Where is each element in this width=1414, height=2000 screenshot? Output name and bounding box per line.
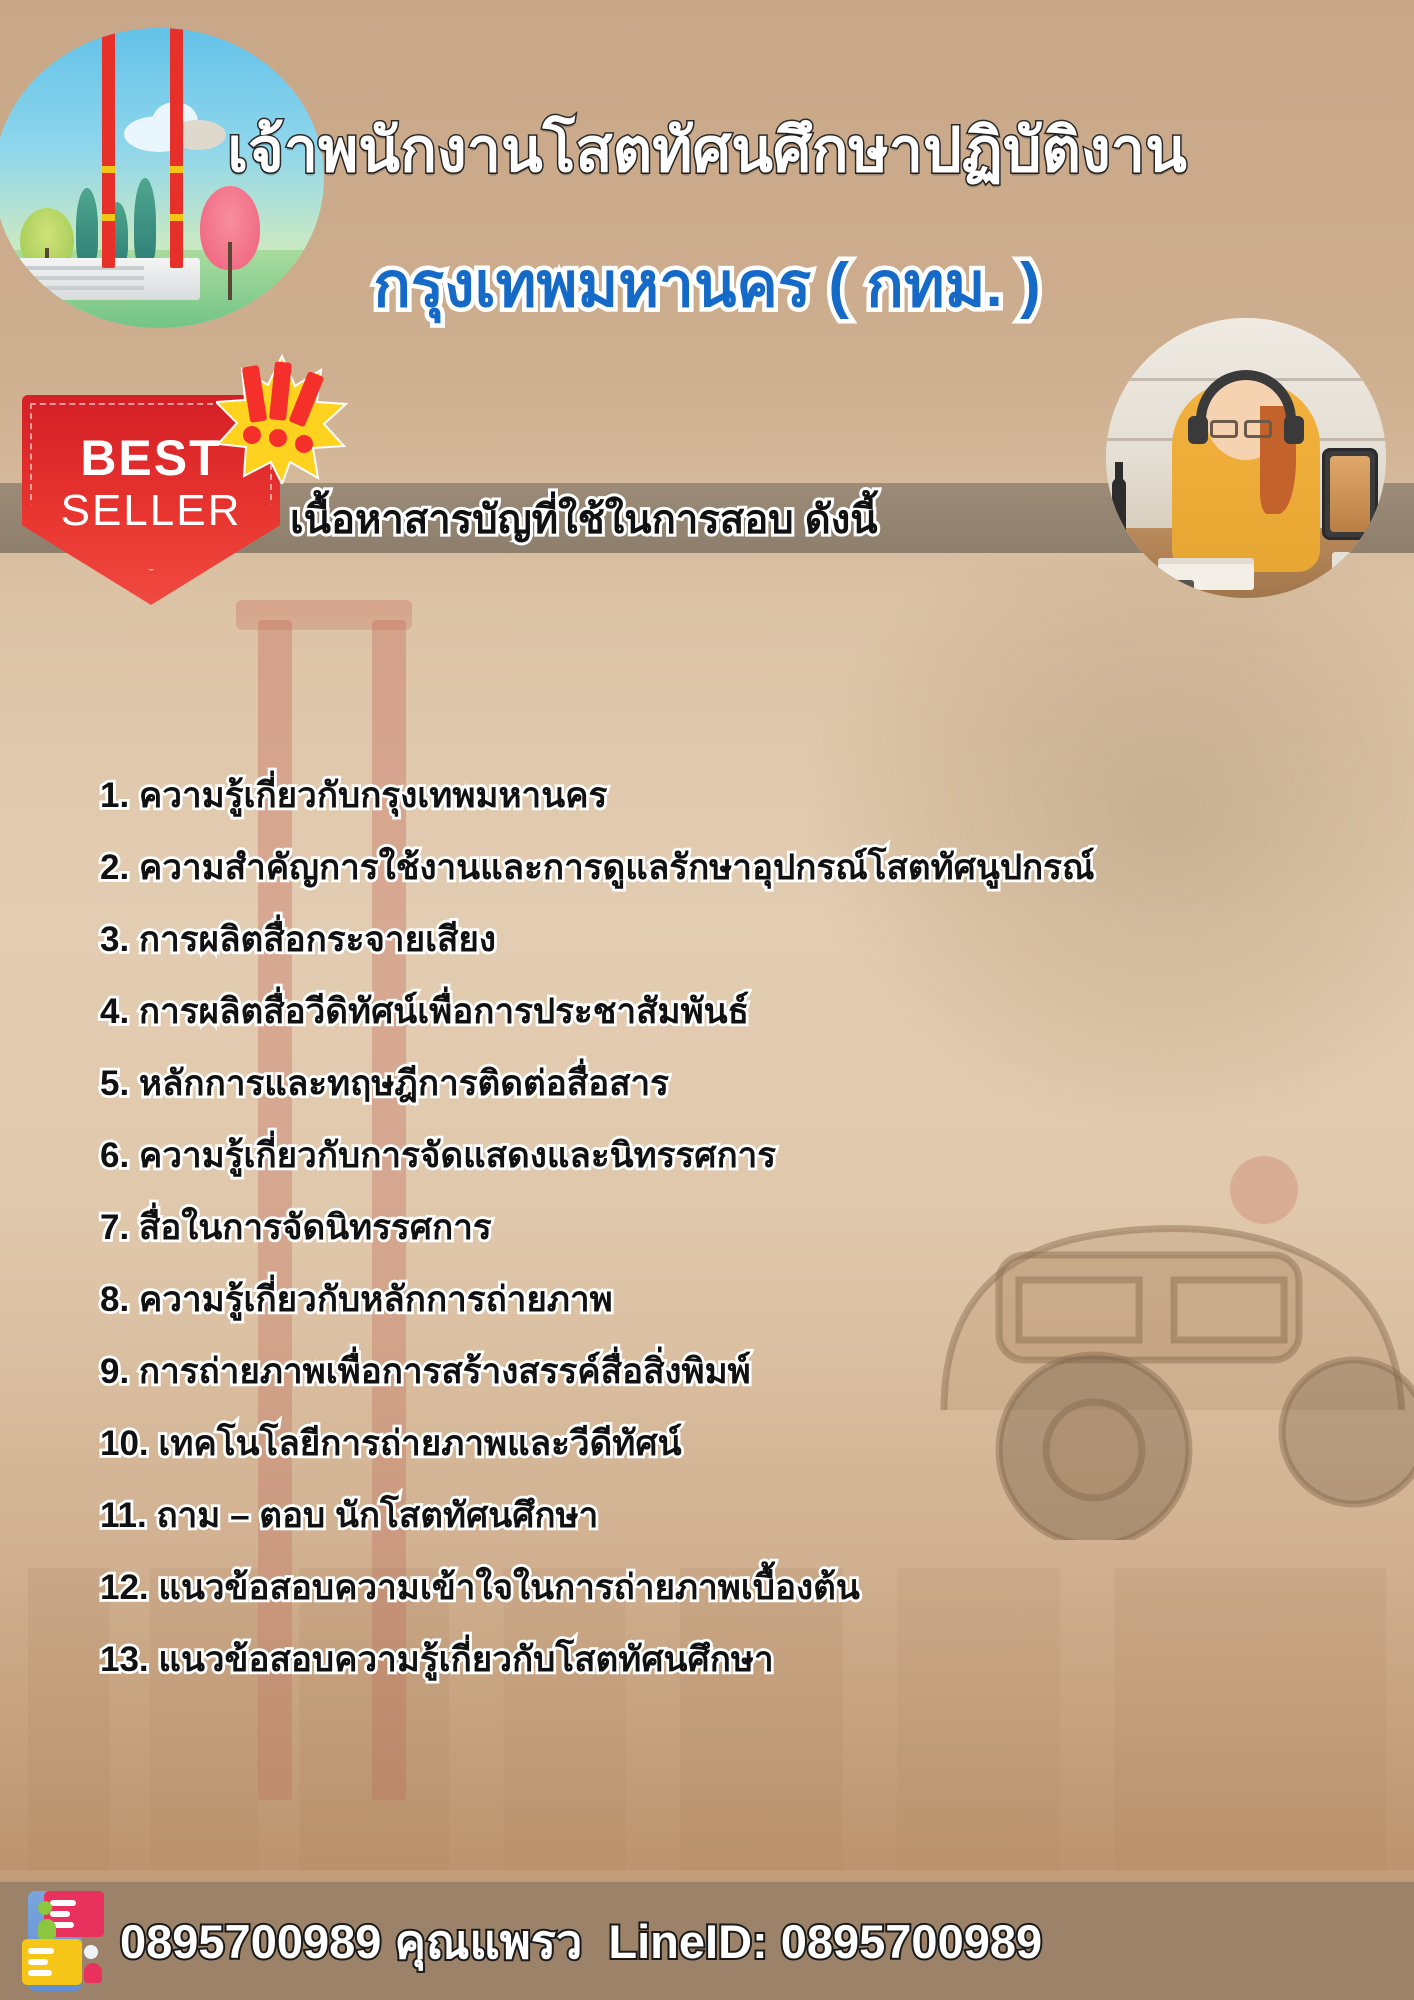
footer-phone: 0895700989 คุณแพรว [120, 1915, 582, 1968]
banner-text-container: เนื้อหาสารบัญที่ใช้ในการสอบ ดังนี้ [290, 487, 1050, 551]
list-item: 2. ความสำคัญการใช้งานและการดูแลรักษาอุปก… [100, 850, 1414, 885]
list-item: 3. การผลิตสื่อกระจายเสียง [100, 922, 1414, 957]
list-item: 4. การผลิตสื่อวีดิทัศน์เพื่อการประชาสัมพ… [100, 994, 1414, 1029]
list-item: 8. ความรู้เกี่ยวกับหลักการถ่ายภาพ [100, 1282, 1414, 1317]
exclamation-burst-icon [216, 352, 348, 484]
list-item: 5. หลักการและทฤษฎีการติดต่อสื่อสาร [100, 1066, 1414, 1101]
banner-text: เนื้อหาสารบัญที่ใช้ในการสอบ ดังนี้ [290, 487, 1050, 551]
list-item: 13. แนวข้อสอบความรู้เกี่ยวกับโสตทัศนศึกษ… [100, 1642, 1414, 1677]
page-title: เจ้าพนักงานโสตทัศนศึกษาปฏิบัติงาน [0, 118, 1414, 182]
list-item: 1. ความรู้เกี่ยวกับกรุงเทพมหานคร [100, 778, 1414, 813]
best-seller-line1: BEST [80, 433, 221, 483]
woman-with-headset-photo [1106, 318, 1386, 598]
footer-contact-text: 0895700989 คุณแพรวLineID: 0895700989 [120, 1904, 1042, 1979]
contact-cards-icon [18, 1885, 110, 1997]
list-item: 12. แนวข้อสอบความเข้าใจในการถ่ายภาพเบื้อ… [100, 1570, 1414, 1605]
list-item: 6. ความรู้เกี่ยวกับการจัดแสดงและนิทรรศกา… [100, 1138, 1414, 1173]
best-seller-line2: SELLER [61, 483, 242, 538]
contact-footer: 0895700989 คุณแพรวLineID: 0895700989 [0, 1882, 1414, 2000]
list-item: 11. ถาม – ตอบ นักโสตทัศนศึกษา [100, 1498, 1414, 1533]
list-item: 9. การถ่ายภาพเพื่อการสร้างสรรค์สื่อสิ่งพ… [100, 1354, 1414, 1389]
list-item: 7. สื่อในการจัดนิทรรศการ [100, 1210, 1414, 1245]
list-item: 10. เทคโนโลยีการถ่ายภาพและวีดีทัศน์ [100, 1426, 1414, 1461]
content-list: 1. ความรู้เกี่ยวกับกรุงเทพมหานคร 2. ความ… [0, 778, 1414, 1714]
main-title-text: เจ้าพนักงานโสตทัศนศึกษาปฏิบัติงาน [0, 118, 1414, 182]
poster-root: เจ้าพนักงานโสตทัศนศึกษาปฏิบัติงาน กรุงเท… [0, 0, 1414, 2000]
footer-lineid: LineID: 0895700989 [608, 1915, 1042, 1968]
